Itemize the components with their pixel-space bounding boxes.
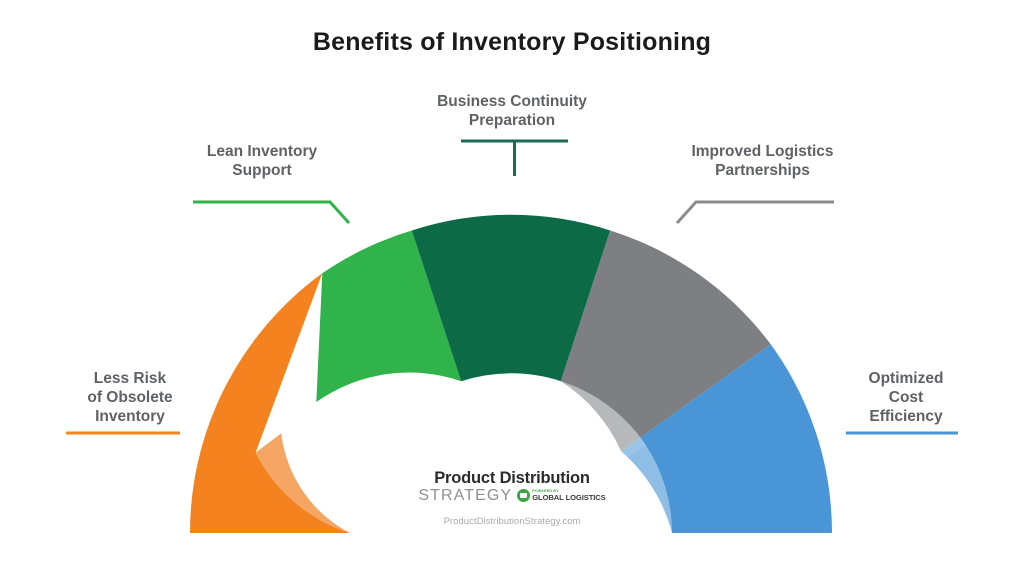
connector-business-continuity	[461, 141, 568, 176]
brand-block: Product Distribution STRATEGY POWERED BY…	[402, 470, 622, 526]
badge-company-name: GLOBAL LOGISTICS	[532, 494, 605, 502]
brand-website-url: ProductDistributionStrategy.com	[402, 515, 622, 526]
label-optimized-cost: Optimized Cost Efficiency	[826, 370, 986, 427]
brand-name-line1: Product Distribution	[402, 470, 622, 487]
infographic-canvas: Benefits of Inventory Positioning	[0, 0, 1024, 567]
label-improved-logistics: Improved Logistics Partnerships	[660, 143, 865, 181]
label-business-continuity: Business Continuity Preparation	[407, 93, 617, 131]
truck-icon	[517, 489, 530, 502]
brand-name-line2: STRATEGY	[418, 488, 512, 504]
label-lean-inventory: Lean Inventory Support	[162, 143, 362, 181]
badge-text-block: POWERED BY GLOBAL LOGISTICS	[532, 490, 605, 501]
connector-improved-logistics	[677, 202, 834, 223]
connector-lean-inventory	[193, 202, 349, 223]
label-less-risk: Less Risk of Obsolete Inventory	[52, 370, 208, 427]
global-logistics-badge: POWERED BY GLOBAL LOGISTICS	[517, 489, 605, 502]
brand-name-line2-row: STRATEGY POWERED BY GLOBAL LOGISTICS	[402, 488, 622, 504]
